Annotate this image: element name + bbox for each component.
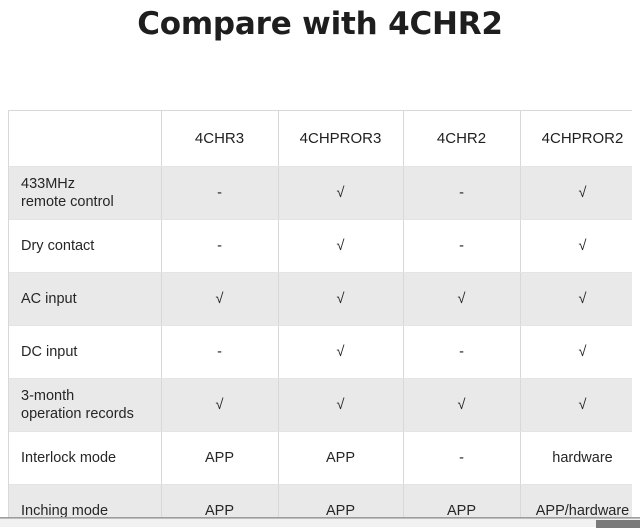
cell-value: √ bbox=[403, 272, 520, 325]
cell-value: - bbox=[161, 166, 278, 219]
table-row: Inching mode APP APP APP APP/hardware bbox=[9, 484, 632, 518]
cell-value: APP/hardware bbox=[520, 484, 632, 518]
table-row: 3-month operation records √ √ √ √ bbox=[9, 378, 632, 431]
table-row: AC input √ √ √ √ bbox=[9, 272, 632, 325]
cell-value: √ bbox=[278, 166, 403, 219]
cell-value: APP bbox=[403, 484, 520, 518]
cell-value: √ bbox=[520, 166, 632, 219]
column-header-4chpror3: 4CHPROR3 bbox=[278, 111, 403, 166]
cell-value: - bbox=[403, 219, 520, 272]
cell-value: √ bbox=[520, 378, 632, 431]
table-row: DC input - √ - √ bbox=[9, 325, 632, 378]
cell-value: √ bbox=[278, 325, 403, 378]
cell-value: √ bbox=[278, 378, 403, 431]
column-header-4chr3: 4CHR3 bbox=[161, 111, 278, 166]
cell-value: √ bbox=[403, 378, 520, 431]
table-row: 433MHz remote control - √ - √ bbox=[9, 166, 632, 219]
feature-label: 433MHz remote control bbox=[9, 166, 161, 219]
column-header-4chpror2: 4CHPROR2 bbox=[520, 111, 632, 166]
feature-label: AC input bbox=[9, 272, 161, 325]
cell-value: √ bbox=[520, 272, 632, 325]
cell-value: √ bbox=[161, 378, 278, 431]
cell-value: √ bbox=[520, 219, 632, 272]
feature-label: DC input bbox=[9, 325, 161, 378]
cell-value: APP bbox=[278, 431, 403, 484]
horizontal-scrollbar[interactable] bbox=[0, 518, 640, 527]
cell-value: √ bbox=[520, 325, 632, 378]
cell-value: - bbox=[403, 166, 520, 219]
table-body: 433MHz remote control - √ - √ Dry contac… bbox=[9, 166, 632, 518]
table-header-row: 4CHR3 4CHPROR3 4CHR2 4CHPROR2 bbox=[9, 111, 632, 166]
cell-value: hardware bbox=[520, 431, 632, 484]
comparison-table: 4CHR3 4CHPROR3 4CHR2 4CHPROR2 433MHz rem… bbox=[9, 111, 632, 518]
comparison-table-container: 4CHR3 4CHPROR3 4CHR2 4CHPROR2 433MHz rem… bbox=[8, 110, 632, 518]
table-row: Dry contact - √ - √ bbox=[9, 219, 632, 272]
cell-value: √ bbox=[278, 219, 403, 272]
feature-label: 3-month operation records bbox=[9, 378, 161, 431]
cell-value: - bbox=[161, 219, 278, 272]
cell-value: - bbox=[403, 431, 520, 484]
cell-value: - bbox=[161, 325, 278, 378]
cell-value: APP bbox=[161, 431, 278, 484]
cell-value: - bbox=[403, 325, 520, 378]
page-title: Compare with 4CHR2 bbox=[0, 4, 640, 44]
cell-value: APP bbox=[278, 484, 403, 518]
feature-label: Dry contact bbox=[9, 219, 161, 272]
feature-label: Inching mode bbox=[9, 484, 161, 518]
cell-value: √ bbox=[161, 272, 278, 325]
cell-value: APP bbox=[161, 484, 278, 518]
cell-value: √ bbox=[278, 272, 403, 325]
column-header-feature bbox=[9, 111, 161, 166]
table-header: 4CHR3 4CHPROR3 4CHR2 4CHPROR2 bbox=[9, 111, 632, 166]
table-row: Interlock mode APP APP - hardware bbox=[9, 431, 632, 484]
feature-label: Interlock mode bbox=[9, 431, 161, 484]
column-header-4chr2: 4CHR2 bbox=[403, 111, 520, 166]
